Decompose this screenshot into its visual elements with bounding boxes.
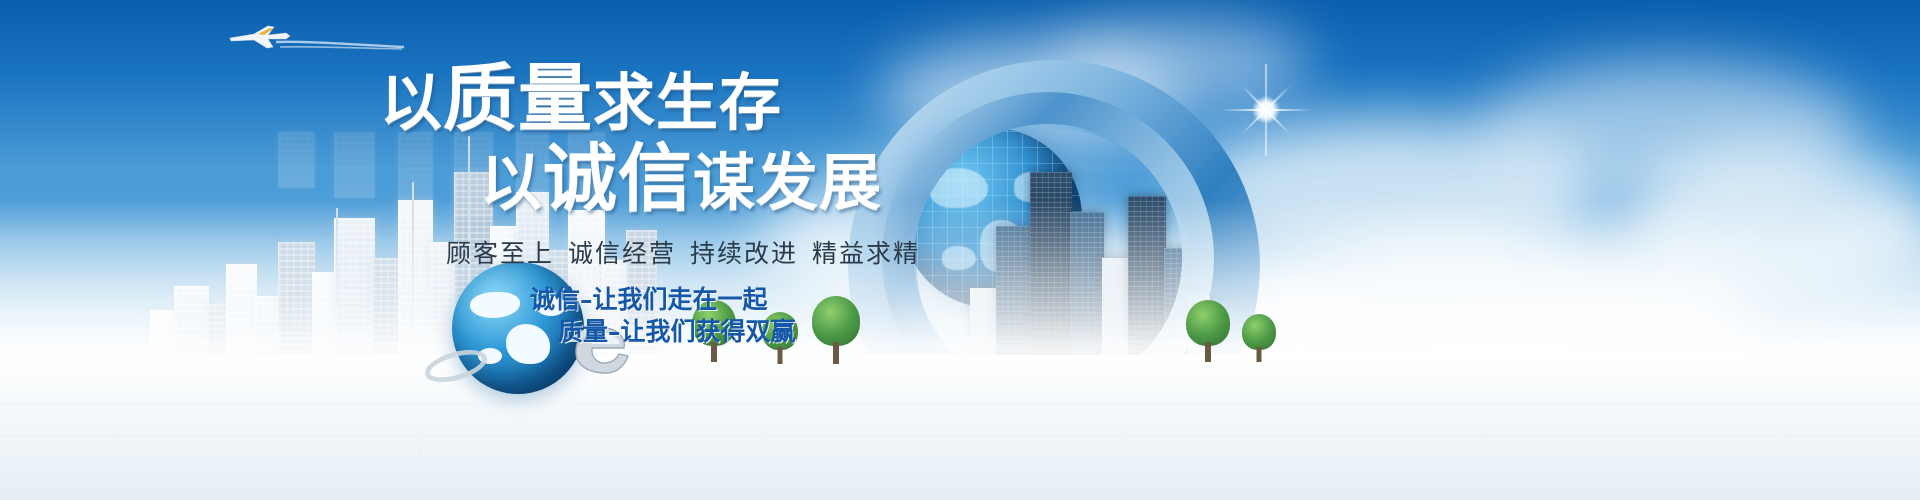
headline-line-1-tail: 求生存 [593,66,782,139]
slogan-line-1: 诚信–让我们走在一起 [530,284,840,316]
headline-line-2-lead: 以 [480,146,543,219]
slogan-block: 诚信–让我们走在一起 质量–让我们获得双赢 [370,284,840,348]
subline-item-1: 顾客至上 [446,239,554,268]
subline-item-4: 精益求精 [812,239,920,268]
headline-line-1: 以质量求生存 [370,62,840,136]
headline-line-1-lead: 以 [380,66,443,139]
subline-item-2: 诚信经营 [568,239,676,268]
headline-line-1-emphasis: 质量 [443,56,593,142]
contrail-trail [276,38,404,50]
headline-line-2-emphasis: 诚信 [543,136,693,222]
headline-line-2: 以诚信谋发展 [370,142,840,216]
sun-flare-icon [1218,62,1314,158]
banner-root: 以质量求生存 以诚信谋发展 顾客至上诚信经营持续改进精益求精 诚信–让我们走在一… [0,0,1920,500]
slogan-line-2: 质量–让我们获得双赢 [530,316,840,348]
tree-icon [1186,300,1230,362]
horizon-haze [0,200,1920,380]
subline-row: 顾客至上诚信经营持续改进精益求精 [370,234,840,270]
tree-icon [1242,314,1276,362]
subline-item-3: 持续改进 [690,239,798,268]
banner-copy: 以质量求生存 以诚信谋发展 顾客至上诚信经营持续改进精益求精 诚信–让我们走在一… [370,62,840,348]
ground-grid [0,355,1920,500]
headline-line-2-tail: 谋发展 [693,146,882,219]
